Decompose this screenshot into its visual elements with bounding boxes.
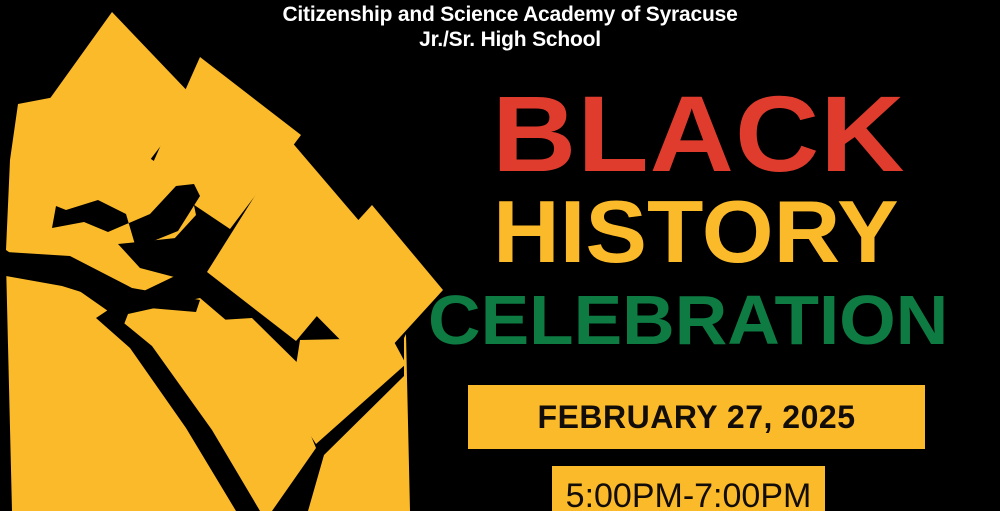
school-header-line-2: Jr./Sr. High School [200, 27, 820, 52]
event-time-banner: 5:00PM-7:00PM [552, 466, 825, 511]
title-line-history: HISTORY [493, 188, 899, 276]
event-title-block: BLACK HISTORY CELEBRATION [420, 70, 1000, 370]
title-line-black: BLACK [492, 80, 906, 188]
school-header-line-1: Citizenship and Science Academy of Syrac… [200, 2, 820, 27]
black-history-celebration-poster: Citizenship and Science Academy of Syrac… [0, 0, 1000, 511]
school-header: Citizenship and Science Academy of Syrac… [200, 2, 820, 52]
event-date-banner: FEBRUARY 27, 2025 [468, 385, 925, 449]
raised-fist-illustration [0, 0, 470, 511]
title-line-celebration: CELEBRATION [428, 285, 948, 355]
